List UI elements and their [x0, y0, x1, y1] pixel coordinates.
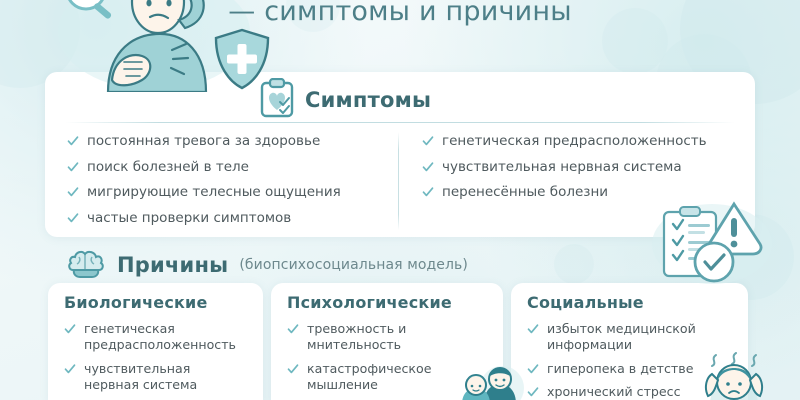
check-icon — [67, 161, 79, 173]
list-item: постоянная тревога за здоровье — [67, 133, 384, 151]
causes-card-title: Биологические — [64, 293, 249, 312]
check-icon — [527, 386, 539, 398]
list-item: генетическая предрасположенность — [64, 321, 249, 354]
check-circle-icon — [695, 243, 733, 281]
list-item: чувствительная нервная система — [422, 159, 739, 177]
list-item: частые проверки симптомов — [67, 210, 384, 228]
checklist-illustration — [650, 198, 776, 286]
list-item-label: генетическая предрасположенность — [442, 133, 707, 151]
list-item-label: чувствительная нервная система — [442, 159, 682, 177]
list-item-label: мигрирующие телесные ощущения — [87, 184, 341, 202]
symptoms-card: Симптомы постоянная тревога за здоровьеп… — [45, 72, 755, 237]
check-icon — [67, 135, 79, 147]
shield-cross-icon — [216, 30, 268, 88]
list-item: тревожность и мнительность — [287, 321, 489, 354]
causes-subheading: (биопсихосоциальная модель) — [239, 257, 468, 273]
check-icon — [67, 212, 79, 224]
causes-columns: Биологические генетическая предрасположе… — [48, 283, 748, 400]
header-divider — [65, 122, 735, 123]
brain-icon — [66, 247, 106, 283]
stressed-woman-illustration — [688, 352, 792, 400]
symptoms-heading: Симптомы — [305, 88, 431, 112]
check-icon — [67, 186, 79, 198]
causes-card-title: Психологические — [287, 293, 489, 312]
list-item: мигрирующие телесные ощущения — [67, 184, 384, 202]
list-item-label: поиск болезней в теле — [87, 159, 249, 177]
list-item-label: постоянная тревога за здоровье — [87, 133, 320, 151]
check-icon — [64, 323, 76, 335]
list-item-label: гиперопека в детстве — [547, 361, 693, 377]
list-item: генетическая предрасположенность — [422, 133, 739, 151]
check-icon — [527, 363, 539, 375]
check-icon — [64, 363, 76, 375]
causes-card-biological: Биологические генетическая предрасположе… — [48, 283, 263, 400]
causes-heading: Причины — [117, 253, 228, 277]
list-item-label: генетическая предрасположенность — [84, 321, 249, 354]
check-icon — [422, 186, 434, 198]
list-item-label: чувствительная нервная система — [84, 361, 249, 394]
list-item: чувствительная нервная система — [64, 361, 249, 394]
list-item-label: избыток медицинской информации — [547, 321, 734, 354]
list-item-label: тревожность и мнительность — [307, 321, 489, 354]
list-item: поиск болезней в теле — [67, 159, 384, 177]
couple-illustration — [432, 364, 528, 400]
decorative-blob — [554, 244, 594, 284]
symptoms-header: Симптомы — [260, 78, 431, 122]
page-title: — симптомы и причины — [0, 0, 800, 27]
list-item: избыток медицинской информации — [527, 321, 734, 354]
list-item-label: перенесённые болезни — [442, 184, 608, 202]
check-icon — [422, 161, 434, 173]
list-item-label: частые проверки симптомов — [87, 210, 291, 228]
causes-header: Причины (биопсихосоциальная модель) — [66, 247, 468, 283]
check-icon — [527, 323, 539, 335]
check-icon — [287, 323, 299, 335]
check-icon — [287, 363, 299, 375]
causes-card-title: Социальные — [527, 293, 734, 312]
list-item-label: хронический стресс — [547, 384, 681, 400]
check-icon — [422, 135, 434, 147]
symptoms-left-column: постоянная тревога за здоровьепоиск боле… — [45, 124, 400, 231]
